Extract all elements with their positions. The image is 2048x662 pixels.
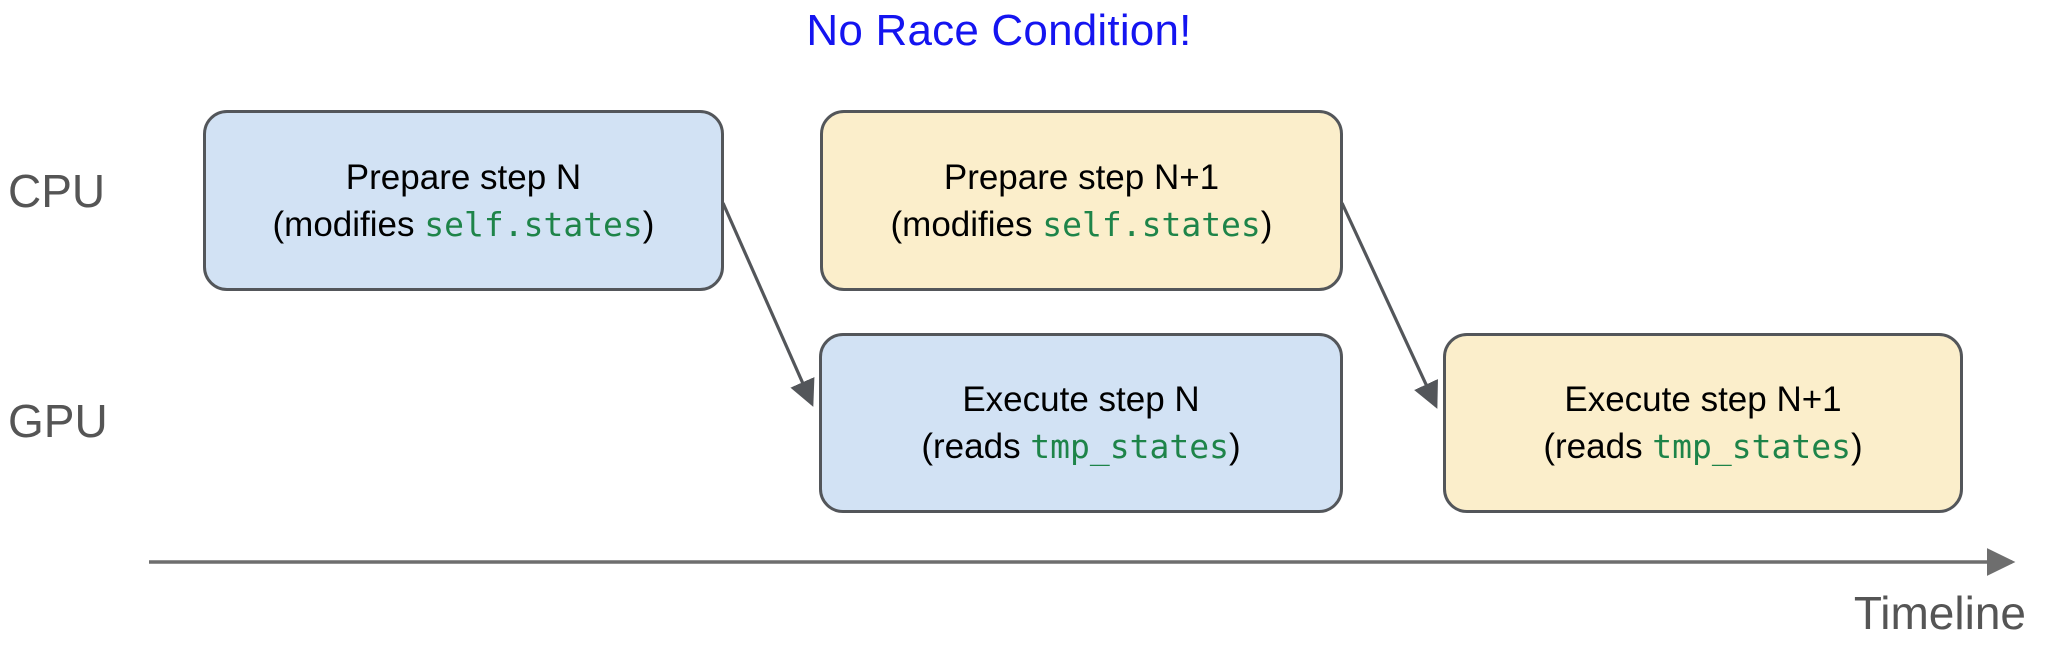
- page-title-text: No Race Condition!: [806, 6, 1191, 55]
- task-box-execute-step-n-line1: Execute step N: [962, 376, 1199, 423]
- prepare-n1-prefix: (modifies: [891, 205, 1043, 244]
- diagram-canvas: No Race Condition! CPU GPU Prepare step …: [0, 0, 2048, 662]
- lane-label-gpu: GPU: [8, 398, 108, 444]
- prepare-n-code-self-states: self.states: [424, 205, 643, 244]
- timeline-label: Timeline: [1854, 588, 2026, 638]
- arrow-prepare-n-to-execute-n: [723, 203, 812, 404]
- execute-n-code-tmp-states: tmp_states: [1030, 427, 1229, 466]
- prepare-n1-suffix: ): [1261, 205, 1273, 244]
- task-box-prepare-step-n-line1: Prepare step N: [346, 154, 581, 201]
- task-box-execute-step-n-plus-1-line2: (reads tmp_states): [1543, 423, 1862, 470]
- task-box-execute-step-n-line2: (reads tmp_states): [921, 423, 1240, 470]
- arrow-layer: [0, 0, 2048, 662]
- prepare-n1-code-self-states: self.states: [1042, 205, 1261, 244]
- prepare-n-suffix: ): [643, 205, 655, 244]
- lane-label-cpu: CPU: [8, 168, 105, 214]
- task-box-prepare-step-n-plus-1[interactable]: Prepare step N+1 (modifies self.states): [820, 110, 1343, 291]
- execute-n1-code-tmp-states: tmp_states: [1652, 427, 1851, 466]
- task-box-execute-step-n-plus-1[interactable]: Execute step N+1 (reads tmp_states): [1443, 333, 1963, 513]
- execute-n1-prefix: (reads: [1543, 427, 1652, 466]
- execute-n-prefix: (reads: [921, 427, 1030, 466]
- task-box-prepare-step-n-plus-1-line2: (modifies self.states): [891, 201, 1273, 248]
- execute-n1-suffix: ): [1851, 427, 1863, 466]
- task-box-execute-step-n[interactable]: Execute step N (reads tmp_states): [819, 333, 1343, 513]
- arrow-prepare-n1-to-execute-n1: [1342, 203, 1436, 406]
- task-box-prepare-step-n[interactable]: Prepare step N (modifies self.states): [203, 110, 724, 291]
- task-box-prepare-step-n-line2: (modifies self.states): [273, 201, 655, 248]
- prepare-n-prefix: (modifies: [273, 205, 425, 244]
- task-box-prepare-step-n-plus-1-line1: Prepare step N+1: [944, 154, 1219, 201]
- page-title: No Race Condition!: [0, 4, 2048, 58]
- execute-n-suffix: ): [1229, 427, 1241, 466]
- task-box-execute-step-n-plus-1-line1: Execute step N+1: [1564, 376, 1841, 423]
